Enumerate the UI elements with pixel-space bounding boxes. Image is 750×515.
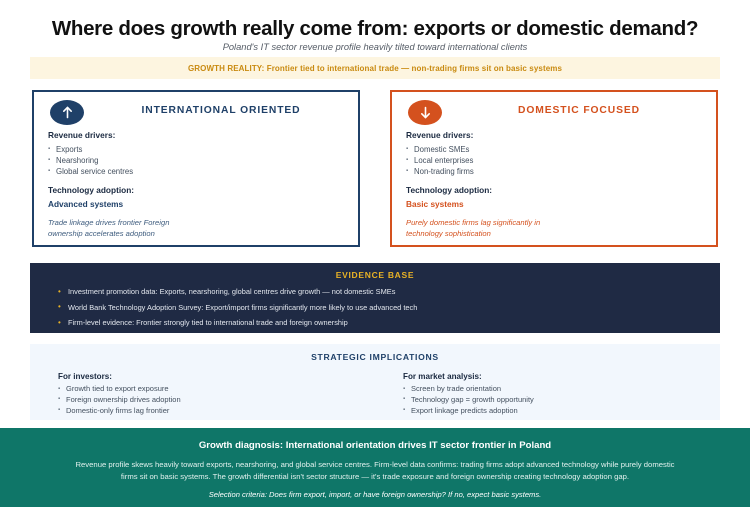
arrow-down-icon	[408, 100, 442, 125]
revenue-drivers-label: Revenue drivers:	[48, 130, 344, 140]
evidence-base-section: EVIDENCE BASE Investment promotion data:…	[30, 263, 720, 333]
infographic-page: Where does growth really come from: expo…	[0, 0, 750, 515]
list-item: Exports	[48, 144, 344, 155]
list-item: Export linkage predicts adoption	[403, 406, 720, 417]
evidence-base-list: Investment promotion data: Exports, near…	[30, 287, 720, 328]
list-item: Firm-level evidence: Frontier strongly t…	[56, 318, 694, 328]
arrow-up-icon	[50, 100, 84, 125]
card-domestic-header: DOMESTIC FOCUSED	[392, 92, 716, 128]
strategic-implications-columns: For investors: Growth tied to export exp…	[30, 372, 720, 417]
strategic-implications-section: STRATEGIC IMPLICATIONS For investors: Gr…	[30, 344, 720, 420]
list-item: Non-trading firms	[406, 166, 702, 177]
strategic-column-list: Screen by trade orientation Technology g…	[403, 384, 720, 417]
card-international-oriented: INTERNATIONAL ORIENTED Revenue drivers: …	[32, 90, 360, 247]
strategic-column-list: Growth tied to export exposure Foreign o…	[58, 384, 375, 417]
card-international-header: INTERNATIONAL ORIENTED	[34, 92, 358, 128]
growth-reality-banner: GROWTH REALITY: Frontier tied to interna…	[30, 57, 720, 79]
strategic-implications-title: STRATEGIC IMPLICATIONS	[30, 352, 720, 362]
technology-adoption-label: Technology adoption:	[406, 185, 702, 195]
card-domestic-note: Purely domestic firms lag significantly …	[406, 217, 556, 239]
list-item: Domestic SMEs	[406, 144, 702, 155]
card-domestic-body: Revenue drivers: Domestic SMEs Local ent…	[392, 130, 716, 239]
strategic-column-market-analysis: For market analysis: Screen by trade ori…	[375, 372, 720, 417]
list-item: Global service centres	[48, 166, 344, 177]
growth-reality-banner-text: GROWTH REALITY: Frontier tied to interna…	[188, 64, 562, 73]
technology-adoption-label: Technology adoption:	[48, 185, 344, 195]
list-item: Screen by trade orientation	[403, 384, 720, 395]
list-item: World Bank Technology Adoption Survey: E…	[56, 303, 694, 313]
list-item: Local enterprises	[406, 155, 702, 166]
growth-diagnosis-footer: Growth diagnosis: International orientat…	[0, 428, 750, 507]
technology-adoption-value: Basic systems	[406, 199, 702, 209]
list-item: Growth tied to export exposure	[58, 384, 375, 395]
footer-selection-criteria: Selection criteria: Does firm export, im…	[0, 490, 750, 499]
revenue-drivers-list: Exports Nearshoring Global service centr…	[48, 144, 344, 177]
strategic-column-investors: For investors: Growth tied to export exp…	[30, 372, 375, 417]
card-international-note: Trade linkage drives frontier Foreign ow…	[48, 217, 198, 239]
footer-title: Growth diagnosis: International orientat…	[0, 440, 750, 451]
list-item: Foreign ownership drives adoption	[58, 395, 375, 406]
evidence-base-title: EVIDENCE BASE	[30, 270, 720, 280]
page-subtitle: Poland's IT sector revenue profile heavi…	[0, 42, 750, 52]
card-domestic-focused: DOMESTIC FOCUSED Revenue drivers: Domest…	[390, 90, 718, 247]
revenue-drivers-label: Revenue drivers:	[406, 130, 702, 140]
revenue-drivers-list: Domestic SMEs Local enterprises Non-trad…	[406, 144, 702, 177]
card-international-body: Revenue drivers: Exports Nearshoring Glo…	[34, 130, 358, 239]
list-item: Nearshoring	[48, 155, 344, 166]
list-item: Domestic-only firms lag frontier	[58, 406, 375, 417]
technology-adoption-value: Advanced systems	[48, 199, 344, 209]
page-title: Where does growth really come from: expo…	[0, 18, 750, 41]
footer-body: Revenue profile skews heavily toward exp…	[75, 459, 675, 482]
list-item: Investment promotion data: Exports, near…	[56, 287, 694, 297]
strategic-column-heading: For investors:	[58, 372, 375, 381]
list-item: Technology gap = growth opportunity	[403, 395, 720, 406]
card-domestic-title: DOMESTIC FOCUSED	[452, 105, 706, 116]
card-international-title: INTERNATIONAL ORIENTED	[94, 105, 348, 116]
strategic-column-heading: For market analysis:	[403, 372, 720, 381]
